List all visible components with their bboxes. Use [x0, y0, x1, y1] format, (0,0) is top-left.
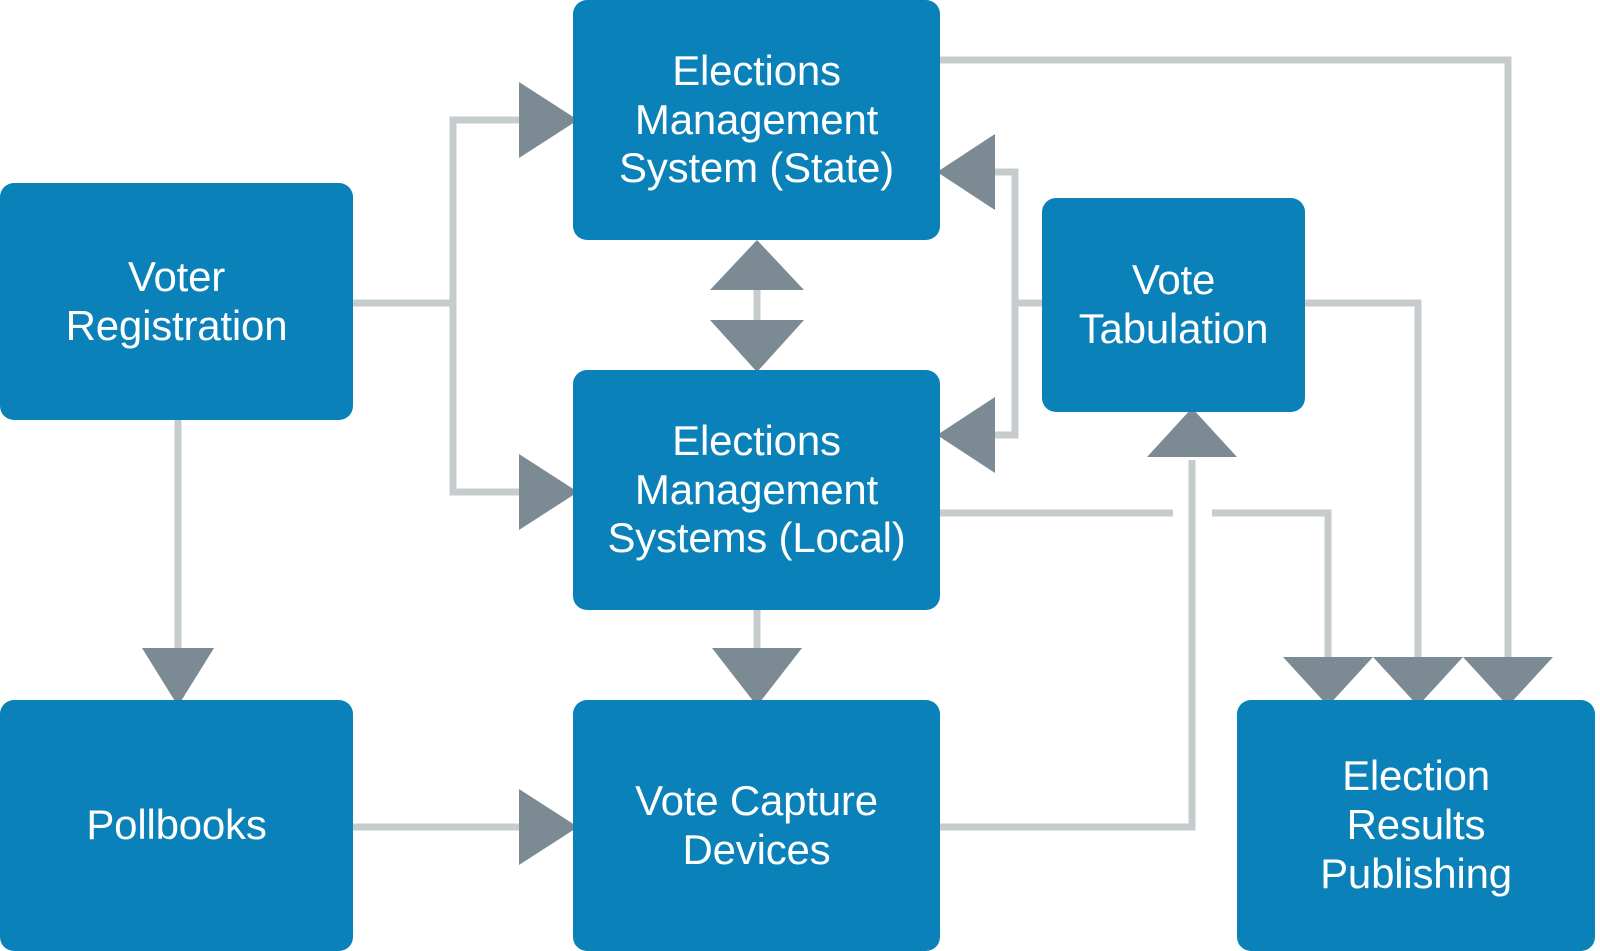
node-label-voter-registration: Voter Registration — [66, 253, 288, 350]
node-election-results-publishing[interactable]: Election Results Publishing — [1237, 700, 1595, 951]
node-pollbooks[interactable]: Pollbooks — [0, 700, 353, 951]
diagram-canvas: Voter Registration Elections Management … — [0, 0, 1600, 951]
node-label-elections-mgmt-state: Elections Management System (State) — [619, 47, 894, 193]
arrowhead-to-vote-tabulation-from-vote-capture-devices — [1147, 408, 1237, 457]
edge-line-vote-tabulation-to-election-results-publishing — [1305, 303, 1418, 660]
arrowhead-to-vote-capture-devices-from-ems-local — [712, 648, 802, 706]
node-elections-mgmt-local[interactable]: Elections Management Systems (Local) — [573, 370, 940, 610]
node-label-vote-capture-devices: Vote Capture Devices — [635, 777, 878, 874]
arrowhead-to-ems-state-from-ems-local — [710, 240, 804, 290]
arrowhead-to-election-results-publishing-from-ems-state — [1463, 657, 1553, 706]
arrowhead-to-ems-local-from-voter-registration — [519, 454, 578, 530]
edge-line-ems-local-to-election-results-publishing-b — [1212, 513, 1328, 660]
arrowhead-to-election-results-publishing-from-ems-local — [1283, 657, 1373, 706]
node-vote-capture-devices[interactable]: Vote Capture Devices — [573, 700, 940, 951]
arrowhead-to-ems-state-from-voter-registration — [519, 82, 578, 158]
node-label-pollbooks: Pollbooks — [86, 801, 266, 850]
edge-line-voter-registration-to-ems-local — [453, 303, 523, 492]
arrowhead-to-ems-state-from-vote-tabulation — [937, 134, 995, 210]
node-label-election-results-publishing: Election Results Publishing — [1320, 752, 1512, 898]
node-voter-registration[interactable]: Voter Registration — [0, 183, 353, 420]
arrowhead-to-ems-local-from-ems-state — [710, 320, 804, 372]
arrowhead-to-ems-local-from-vote-tabulation — [937, 397, 995, 473]
node-label-elections-mgmt-local: Elections Management Systems (Local) — [607, 417, 905, 563]
edge-line-voter-registration-to-ems-state — [453, 120, 523, 303]
arrowhead-to-election-results-publishing-from-vote-tabulation — [1373, 657, 1463, 706]
node-elections-mgmt-state[interactable]: Elections Management System (State) — [573, 0, 940, 240]
arrowhead-to-vote-capture-devices-from-pollbooks — [519, 789, 578, 865]
node-vote-tabulation[interactable]: Vote Tabulation — [1042, 198, 1305, 412]
node-label-vote-tabulation: Vote Tabulation — [1079, 256, 1268, 353]
arrowhead-to-pollbooks — [142, 648, 214, 706]
